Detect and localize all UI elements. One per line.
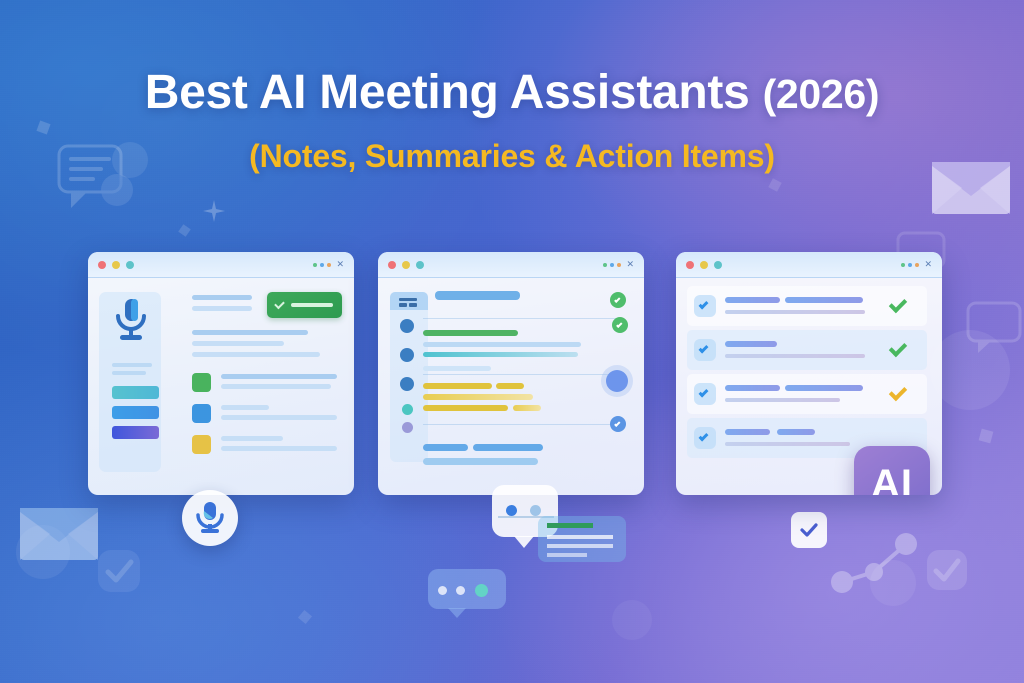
- status-dot-orange: [915, 263, 919, 267]
- task-status-check-yellow: [889, 383, 907, 401]
- sidebar-bar-blue[interactable]: [112, 406, 159, 419]
- status-dot-orange: [327, 263, 331, 267]
- task-meta-line: [725, 442, 850, 446]
- content-line-blue: [423, 458, 538, 465]
- divider: [423, 374, 623, 375]
- content-line-blue: [423, 444, 468, 451]
- task-title-line: [777, 429, 815, 435]
- task-title-line: [725, 385, 780, 391]
- check-icon: [274, 299, 285, 310]
- task-status-check-green: [889, 295, 907, 313]
- card-action-items[interactable]: ✕: [676, 252, 942, 495]
- content-line: [192, 306, 252, 311]
- content-line: [423, 342, 581, 347]
- titlebar: ✕: [378, 252, 644, 278]
- close-icon[interactable]: ✕: [336, 260, 344, 269]
- status-dot-orange: [617, 263, 621, 267]
- check-icon: [699, 300, 709, 310]
- status-check-done[interactable]: [612, 317, 628, 333]
- close-dot[interactable]: [686, 261, 694, 269]
- task-meta-line: [725, 310, 865, 314]
- sidebar-line: [112, 363, 152, 367]
- status-active-indicator[interactable]: [606, 370, 628, 392]
- cards-row: ✕: [0, 252, 1024, 512]
- tag-yellow[interactable]: [192, 435, 211, 454]
- content-line: [221, 374, 337, 379]
- timeline-dot[interactable]: [400, 348, 414, 362]
- close-dot[interactable]: [98, 261, 106, 269]
- content-line: [221, 436, 283, 441]
- card-summary[interactable]: ✕: [378, 252, 644, 495]
- content-line: [192, 352, 320, 357]
- close-dot[interactable]: [388, 261, 396, 269]
- microphone-icon: [113, 298, 149, 344]
- status-dot-green: [901, 263, 905, 267]
- approve-button[interactable]: [267, 292, 342, 318]
- ai-badge-label: AI: [871, 462, 913, 496]
- card-body: [378, 278, 644, 495]
- status-check-done[interactable]: [610, 292, 626, 308]
- card-body: AI: [676, 278, 942, 495]
- highlight-line-green: [423, 330, 518, 336]
- status-dot-green: [603, 263, 607, 267]
- check-icon: [614, 296, 620, 302]
- task-row[interactable]: [687, 330, 927, 370]
- sidebar-line: [112, 371, 146, 375]
- status-dot-blue: [610, 263, 614, 267]
- page-subtitle: (Notes, Summaries & Action Items): [0, 138, 1024, 175]
- highlight-line-yellow: [496, 383, 524, 389]
- timeline-dot[interactable]: [400, 319, 414, 333]
- timeline-dot-teal[interactable]: [402, 404, 413, 415]
- maximize-dot[interactable]: [126, 261, 134, 269]
- title-year-text: (2026): [763, 71, 880, 117]
- content-line: [423, 366, 491, 371]
- timeline-dot[interactable]: [400, 377, 414, 391]
- highlight-line-yellow: [423, 394, 533, 400]
- task-title-line: [725, 429, 770, 435]
- check-icon: [616, 321, 622, 327]
- minimize-dot[interactable]: [112, 261, 120, 269]
- content-line-teal: [423, 352, 578, 357]
- status-dot-blue: [908, 263, 912, 267]
- task-checkbox[interactable]: [694, 295, 716, 317]
- sidebar-bar-indigo[interactable]: [112, 426, 159, 439]
- card-body: [88, 278, 354, 495]
- checkbox-checked-icon: [799, 520, 819, 540]
- task-meta-line: [725, 398, 840, 402]
- titlebar-right: ✕: [901, 260, 932, 269]
- content-line: [192, 341, 284, 346]
- status-dot-green: [313, 263, 317, 267]
- task-row[interactable]: [687, 286, 927, 326]
- tag-blue[interactable]: [192, 404, 211, 423]
- ai-badge: AI: [854, 446, 930, 495]
- check-icon: [614, 420, 620, 426]
- maximize-dot[interactable]: [714, 261, 722, 269]
- task-title-line: [725, 297, 780, 303]
- check-icon: [699, 388, 709, 398]
- tag-green[interactable]: [192, 373, 211, 392]
- task-title-line: [725, 341, 777, 347]
- button-label-bar: [291, 303, 333, 307]
- divider: [423, 424, 623, 425]
- task-title-line: [785, 385, 863, 391]
- titlebar-right: ✕: [313, 260, 344, 269]
- content-line: [192, 295, 252, 300]
- close-icon[interactable]: ✕: [924, 260, 932, 269]
- maximize-dot[interactable]: [416, 261, 424, 269]
- titlebar: ✕: [676, 252, 942, 278]
- titlebar: ✕: [88, 252, 354, 278]
- check-icon: [699, 432, 709, 442]
- task-title-line: [785, 297, 863, 303]
- window-controls[interactable]: [686, 261, 722, 269]
- card-transcription[interactable]: ✕: [88, 252, 354, 495]
- sidebar-header-tab[interactable]: [390, 292, 428, 310]
- task-checkbox[interactable]: [694, 383, 716, 405]
- content-line-blue: [473, 444, 543, 451]
- content-line: [221, 446, 337, 451]
- highlight-line-yellow: [423, 405, 508, 411]
- content-line: [221, 415, 337, 420]
- highlight-line-yellow: [423, 383, 492, 389]
- close-icon[interactable]: ✕: [626, 260, 634, 269]
- checkbox-badge: [791, 512, 827, 548]
- highlight-line-yellow: [513, 405, 541, 411]
- task-status-check-green: [889, 339, 907, 357]
- summary-title-line: [435, 291, 520, 300]
- minimize-dot[interactable]: [700, 261, 708, 269]
- content-line: [192, 330, 308, 335]
- titlebar-right: ✕: [603, 260, 634, 269]
- task-row[interactable]: [687, 374, 927, 414]
- poster-background: Best AI Meeting Assistants (2026) (Notes…: [0, 0, 1024, 683]
- page-title: Best AI Meeting Assistants (2026): [0, 68, 1024, 118]
- content-line: [221, 405, 269, 410]
- poster-headings: Best AI Meeting Assistants (2026) (Notes…: [0, 0, 1024, 175]
- task-checkbox[interactable]: [694, 427, 716, 449]
- window-controls[interactable]: [388, 261, 424, 269]
- check-icon: [699, 344, 709, 354]
- sidebar-bar-teal[interactable]: [112, 386, 159, 399]
- task-checkbox[interactable]: [694, 339, 716, 361]
- window-controls[interactable]: [98, 261, 134, 269]
- status-check-complete[interactable]: [610, 416, 626, 432]
- content-line: [221, 384, 331, 389]
- divider: [423, 318, 623, 319]
- title-main-text: Best AI Meeting Assistants: [145, 66, 750, 119]
- status-dot-blue: [320, 263, 324, 267]
- timeline-dot-purple[interactable]: [402, 422, 413, 433]
- task-meta-line: [725, 354, 865, 358]
- minimize-dot[interactable]: [402, 261, 410, 269]
